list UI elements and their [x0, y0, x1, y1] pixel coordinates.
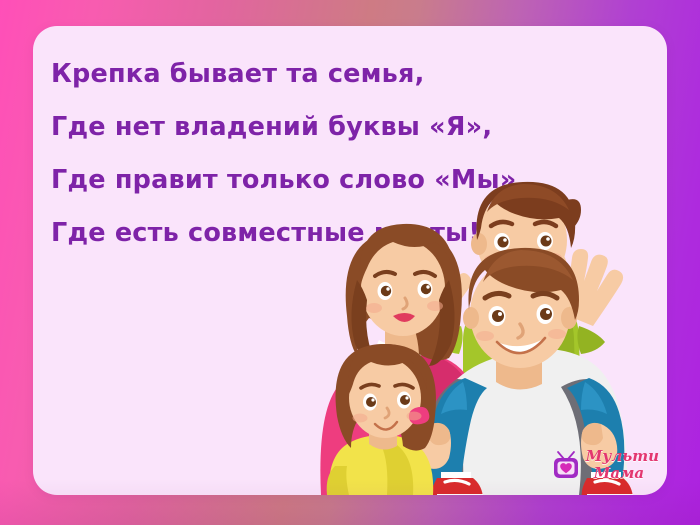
mother-figure — [320, 224, 486, 495]
logo-wordmark: Мульти Мама — [586, 449, 659, 481]
girl-figure — [327, 344, 436, 495]
verse-line-2: Где нет владений буквы «Я», — [51, 101, 611, 154]
verse-line-3: Где правит только слово «Мы», — [51, 154, 611, 207]
tv-heart-icon — [551, 449, 581, 481]
verse-line-1: Крепка бывает та семья, — [51, 48, 611, 101]
verse-line-4: Где есть совместные мечты! — [51, 207, 611, 260]
logo-word-top: Мульти — [586, 449, 659, 464]
poster-canvas: Крепка бывает та семья, Где нет владений… — [0, 0, 700, 525]
logo-word-bottom: Мама — [594, 466, 659, 481]
brand-logo[interactable]: Мульти Мама — [551, 449, 659, 481]
content-card: Крепка бывает та семья, Где нет владений… — [33, 26, 667, 495]
verse-block: Крепка бывает та семья, Где нет владений… — [51, 48, 611, 260]
